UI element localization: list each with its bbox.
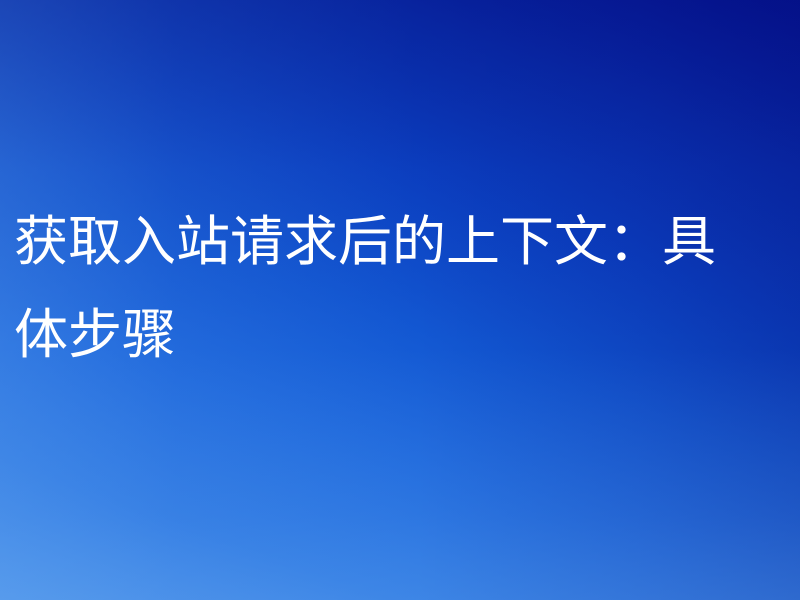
- title-line-2: 体步骤: [14, 289, 800, 382]
- title-card: 获取入站请求后的上下文：具 体步骤: [0, 0, 800, 600]
- title-line-1: 获取入站请求后的上下文：具: [14, 196, 800, 289]
- page-title: 获取入站请求后的上下文：具 体步骤: [14, 196, 800, 382]
